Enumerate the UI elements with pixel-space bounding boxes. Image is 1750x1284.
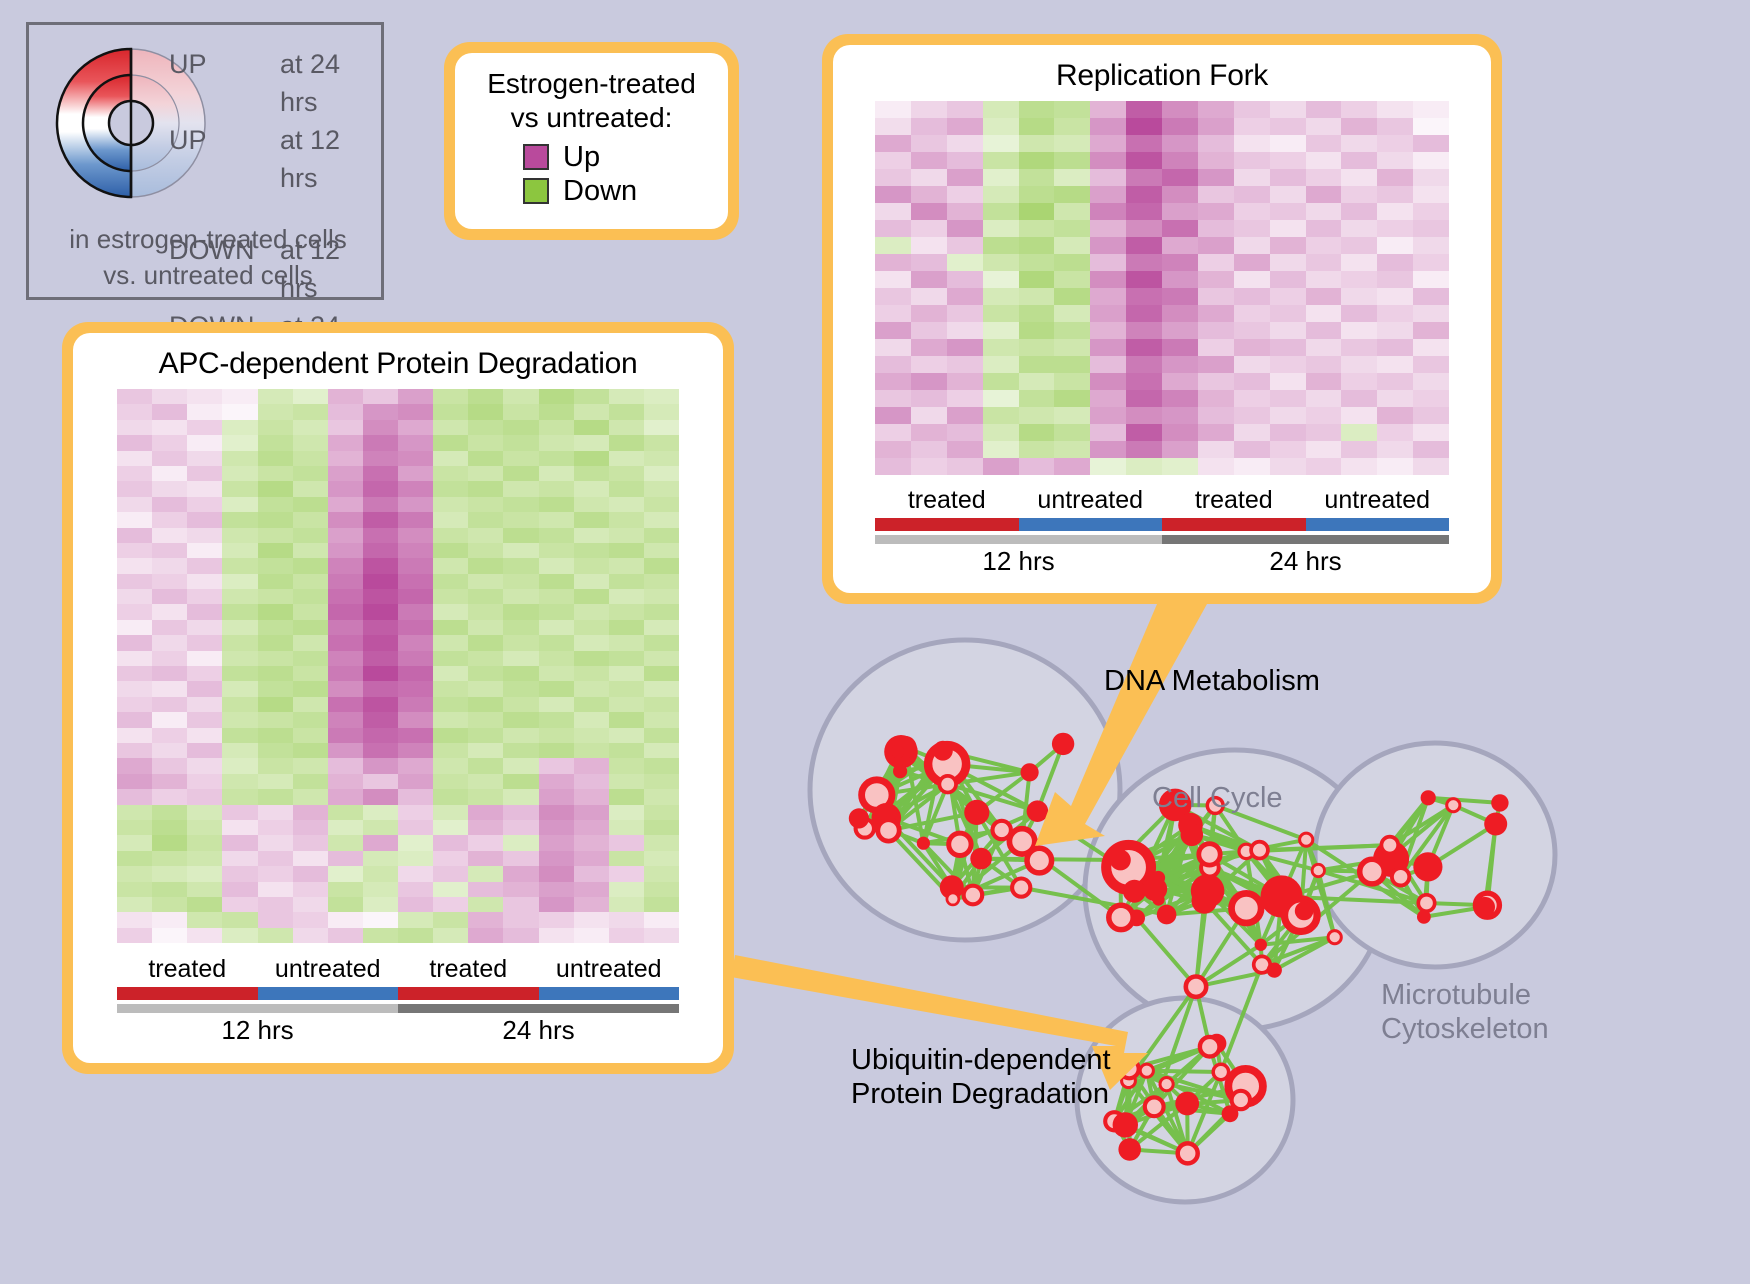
network-node [1012,879,1030,897]
column-label-untreated-12: untreated [1019,486,1163,515]
heatmap-cell [152,543,187,558]
heatmap-cell [152,774,187,789]
column-label-treated-24: treated [398,955,539,984]
treatment-bar-row [117,987,679,1000]
heatmap-cell [539,928,574,943]
heatmap-cell [187,574,222,589]
bar-12hrs [875,535,1162,544]
heatmap-cell [187,404,222,419]
heatmap-cell [328,604,363,619]
heatmap-cell [1306,288,1342,305]
heatmap-cell [398,635,433,650]
heatmap-cell [398,620,433,635]
network-node [1109,905,1133,929]
time-bar-row [117,1004,679,1013]
heatmap-cell [983,390,1019,407]
heatmap-cell [983,101,1019,118]
heatmap-cell [363,604,398,619]
heatmap-cell [363,805,398,820]
heatmap-cell [398,728,433,743]
heatmap-cell [503,481,538,496]
time-bar-row [875,535,1449,544]
heatmap-cell [574,651,609,666]
heatmap-cell [433,805,468,820]
heatmap-cell [433,897,468,912]
heatmap-cell [328,805,363,820]
heatmap-cell [433,404,468,419]
heatmap-cell [1234,390,1270,407]
heatmap-cell [1019,458,1055,475]
heatmap-cell [293,805,328,820]
network-node [1267,963,1282,978]
heatmap-cell [222,774,257,789]
heatmap-cell [875,356,911,373]
heatmap-cell [609,558,644,573]
heatmap-cell [328,774,363,789]
heatmap-cell [539,805,574,820]
network-node [1178,1143,1198,1163]
column-label-untreated-24: untreated [1306,486,1450,515]
heatmap-cell [117,635,152,650]
network-node [1232,1091,1250,1109]
heatmap-cell [609,805,644,820]
heatmap-cell [1270,373,1306,390]
heatmap-cell [468,528,503,543]
heatmap-cell [983,424,1019,441]
heatmap-cell [222,589,257,604]
heatmap-cell [398,528,433,543]
heatmap-cell [1162,373,1198,390]
heatmap-cell [258,451,293,466]
heatmap-cell [398,851,433,866]
heatmap-cell [1162,203,1198,220]
heatmap-cell [117,789,152,804]
heatmap-cell [644,774,679,789]
heatmap-cell [363,574,398,589]
legend-label-down: Down [563,175,637,207]
column-label-untreated-12: untreated [258,955,399,984]
heatmap-cell [1090,203,1126,220]
heatmap-cell [983,135,1019,152]
heatmap-cell [398,681,433,696]
heatmap-cell [398,712,433,727]
heatmap-cell [875,186,911,203]
time-label-12hrs: 12 hrs [117,1015,398,1046]
heatmap-cell [222,666,257,681]
heatmap-cell [644,589,679,604]
network-node [1200,1037,1220,1057]
heatmap-cell [947,441,983,458]
heatmap-cell [152,497,187,512]
heatmap-cell [328,389,363,404]
network-node [933,741,953,761]
heatmap-cell [1377,390,1413,407]
heatmap-cell [644,481,679,496]
heatmap-cell [293,820,328,835]
heatmap-cell [398,912,433,927]
heatmap-cell [1413,186,1449,203]
network-node [1251,842,1268,859]
heatmap-cell [1054,339,1090,356]
heatmap-cell [152,558,187,573]
heatmap-cell [398,404,433,419]
heatmap-cell [117,712,152,727]
heatmap-cell [328,912,363,927]
heatmap-cell [468,651,503,666]
heatmap-cell [1162,288,1198,305]
heatmap-cell [1162,339,1198,356]
heatmap-cell [1054,203,1090,220]
network-node [1213,1064,1228,1079]
heatmap-cell [983,373,1019,390]
heatmap-cell [1019,271,1055,288]
heatmap-cell [1054,237,1090,254]
heatmap-cell [1341,271,1377,288]
heatmap-cell [258,697,293,712]
heatmap-cell [328,589,363,604]
heatmap-cell [947,118,983,135]
heatmap-cell [363,435,398,450]
heatmap-cell [1126,135,1162,152]
heatmap-cell [1126,118,1162,135]
heatmap-cell [468,543,503,558]
network-node [1360,859,1385,884]
heatmap-cell [468,604,503,619]
heatmap-cell [117,866,152,881]
heatmap-cell [1234,118,1270,135]
heatmap-cell [1198,441,1234,458]
heatmap-cell [1270,305,1306,322]
heatmap-cell [398,820,433,835]
heatmap-cell [574,805,609,820]
heatmap-cell [117,604,152,619]
bar-treated-12 [117,987,258,1000]
heatmap-cell [398,558,433,573]
heatmap-cell [187,389,222,404]
heatmap-cell [1270,441,1306,458]
heatmap-cell [644,420,679,435]
heatmap-cell [983,322,1019,339]
heatmap-cell [1126,203,1162,220]
heatmap-cell [433,420,468,435]
heatmap-cell [1090,254,1126,271]
heatmap-cell [1198,424,1234,441]
heatmap-cell [187,851,222,866]
heatmap-cell [398,466,433,481]
heatmap-cell [875,237,911,254]
heatmap-cell [911,135,947,152]
heatmap-cell [539,866,574,881]
heatmap-cell [187,912,222,927]
heatmap-cell [1019,322,1055,339]
heatmap-cell [947,152,983,169]
heatmap-cell [468,512,503,527]
heatmap-cell [644,558,679,573]
heatmap-cell [503,651,538,666]
heatmap-cell [1198,101,1234,118]
heatmap-cell [1054,271,1090,288]
heatmap-cell [1306,407,1342,424]
heatmap-cell [398,866,433,881]
heatmap-cell [328,481,363,496]
heatmap-cell [1198,407,1234,424]
heatmap-cell [258,435,293,450]
heatmap-cell [1377,101,1413,118]
color-key-footer-line2: vs. untreated cells [29,257,387,293]
heatmap-cell [293,912,328,927]
heatmap-cell [983,407,1019,424]
heatmap-cell [539,451,574,466]
heatmap-cell [1306,220,1342,237]
heatmap-cell [222,882,257,897]
heatmap-cell [1377,135,1413,152]
heatmap-cell [609,851,644,866]
heatmap-cell [539,712,574,727]
heatmap-cell [1198,356,1234,373]
heatmap-cell [1270,101,1306,118]
heatmap-cell [503,728,538,743]
heatmap-cell [1377,441,1413,458]
heatmap-cell [222,728,257,743]
heatmap-cell [1306,118,1342,135]
heatmap-cell [293,712,328,727]
heatmap-cell [1270,390,1306,407]
heatmap-cell [363,666,398,681]
heatmap-cell [1413,441,1449,458]
cluster-label-microtubule-line2: Cytoskeleton [1381,1012,1531,1046]
heatmap-cell [258,712,293,727]
heatmap-cell [875,390,911,407]
network-node [893,764,907,778]
heatmap-cell [1198,271,1234,288]
heatmap-cell [503,681,538,696]
heatmap-cell [1162,271,1198,288]
heatmap-cell [117,389,152,404]
heatmap-cell [328,835,363,850]
heatmap-cell [293,604,328,619]
heatmap-cell [1341,356,1377,373]
heatmap-cell [468,882,503,897]
heatmap-cell [539,912,574,927]
heatmap-cell [222,512,257,527]
heatmap-cell [1162,152,1198,169]
heatmap-cell [539,404,574,419]
heatmap-cell [911,203,947,220]
heatmap-cell [1234,203,1270,220]
heatmap-cell [328,728,363,743]
heatmap-cell [117,882,152,897]
heatmap-cell [468,851,503,866]
cluster-label-cell-cycle: Cell Cycle [1152,781,1283,815]
heatmap-cell [468,820,503,835]
heatmap-cell [911,152,947,169]
heatmap-cell [363,866,398,881]
heatmap-cell [152,681,187,696]
heatmap-cell [1377,152,1413,169]
heatmap-cell [1019,203,1055,220]
heatmap-cell [468,435,503,450]
heatmap-cell [503,620,538,635]
heatmap-cell [983,254,1019,271]
heatmap-cell [117,820,152,835]
heatmap-cell [609,758,644,773]
heatmap-cell [574,912,609,927]
heatmap-cell [117,620,152,635]
heatmap-cell [1162,390,1198,407]
heatmap-cell [983,220,1019,237]
heatmap-cell [644,620,679,635]
heatmap-cell [152,451,187,466]
heatmap-cell [875,203,911,220]
heatmap-cell [363,543,398,558]
color-key-footer-line1: in estrogen-treated cells [29,221,387,257]
heatmap-cell [258,835,293,850]
heatmap-cell [574,758,609,773]
heatmap-cell [644,789,679,804]
heatmap-cell [187,512,222,527]
network-node [1113,1112,1138,1137]
heatmap-cell [644,866,679,881]
bar-12hrs [117,1004,398,1013]
heatmap-cell [328,651,363,666]
heatmap-cell [363,728,398,743]
heatmap-cell [398,897,433,912]
heatmap-cell [503,451,538,466]
heatmap-cell [222,620,257,635]
heatmap-cell [644,604,679,619]
heatmap-cell [1054,356,1090,373]
heatmap-cell [1162,186,1198,203]
network-node [1181,824,1204,847]
heatmap-cell [983,152,1019,169]
heatmap-cell [875,135,911,152]
heatmap-cell [574,851,609,866]
heatmap-cell [293,897,328,912]
heatmap-cell [609,743,644,758]
heatmap-cell [398,928,433,943]
heatmap-cell [1413,424,1449,441]
heatmap-cell [1198,118,1234,135]
heatmap-cell [609,435,644,450]
heatmap-cell [609,882,644,897]
heatmap-cell [1162,458,1198,475]
heatmap-cell [152,743,187,758]
heatmap-cell [609,574,644,589]
network-node [917,837,930,850]
heatmap-cell [1162,118,1198,135]
heatmap-cell [152,697,187,712]
heatmap-cell [433,774,468,789]
heatmap-cell [293,435,328,450]
heatmap-cell [609,389,644,404]
heatmap-cell [433,728,468,743]
heatmap-cell [433,882,468,897]
heatmap-cell [363,420,398,435]
heatmap-cell [222,866,257,881]
heatmap-cell [433,497,468,512]
heatmap-cell [187,651,222,666]
heatmap-cell [398,451,433,466]
heatmap-cell [1234,135,1270,152]
heatmap-cell [609,697,644,712]
heatmap-cell [503,512,538,527]
heatmap-cell [433,635,468,650]
heatmap-cell [363,620,398,635]
heatmap-cell [1341,169,1377,186]
legend-title-line1: Estrogen-treated [455,67,728,101]
heatmap-cell [1126,458,1162,475]
heatmap-cell [468,681,503,696]
heatmap-cell [1270,237,1306,254]
heatmap-cell [503,851,538,866]
heatmap-cell [258,928,293,943]
pathway-network-diagram [780,600,1750,1279]
heatmap-cell [1234,424,1270,441]
heatmap-cell [258,558,293,573]
heatmap-cell [1341,186,1377,203]
heatmap-cell [328,820,363,835]
heatmap-cell [1377,203,1413,220]
heatmap-cell [875,339,911,356]
heatmap-cell [574,497,609,512]
heatmap-cell [1341,288,1377,305]
heatmap-cell [1162,101,1198,118]
bar-untreated-24 [1306,518,1450,531]
heatmap-cell [258,389,293,404]
heatmap-cell [539,774,574,789]
heatmap-cell [468,420,503,435]
heatmap-cell [1306,424,1342,441]
heatmap-cell [433,543,468,558]
heatmap-cell [187,620,222,635]
heatmap-cell [433,928,468,943]
heatmap-cell [433,712,468,727]
cluster-label-ubiquitin-line2: Protein Degradation [851,1077,1111,1111]
heatmap-cell [1306,356,1342,373]
heatmap-cell [503,805,538,820]
heatmap-cell [1306,339,1342,356]
heatmap-cell [644,635,679,650]
cluster-label-dna-metabolism: DNA Metabolism [1104,664,1320,698]
heatmap-cell [1090,356,1126,373]
heatmap-cell [1306,373,1342,390]
heatmap-cell [1126,101,1162,118]
heatmap-cell [398,389,433,404]
heatmap-cell [363,481,398,496]
heatmap-cell [1198,305,1234,322]
heatmap-cell [947,407,983,424]
heatmap-cell [644,512,679,527]
network-node [1413,852,1442,881]
heatmap-cell [1090,288,1126,305]
heatmap-cell [947,458,983,475]
heatmap-cell [187,697,222,712]
heatmap-cell [1090,237,1126,254]
heatmap-cell [1413,458,1449,475]
heatmap-cell [947,186,983,203]
heatmap-cell [187,789,222,804]
heatmap-cell [258,789,293,804]
heatmap-cell [1413,220,1449,237]
legend-label-up: Up [563,141,600,173]
heatmap-cell [222,897,257,912]
heatmap-cell [468,451,503,466]
heatmap-cell [1198,322,1234,339]
heatmap-cell [1306,271,1342,288]
heatmap-cell [1413,101,1449,118]
heatmap-cell [1090,271,1126,288]
heatmap-cell [574,774,609,789]
